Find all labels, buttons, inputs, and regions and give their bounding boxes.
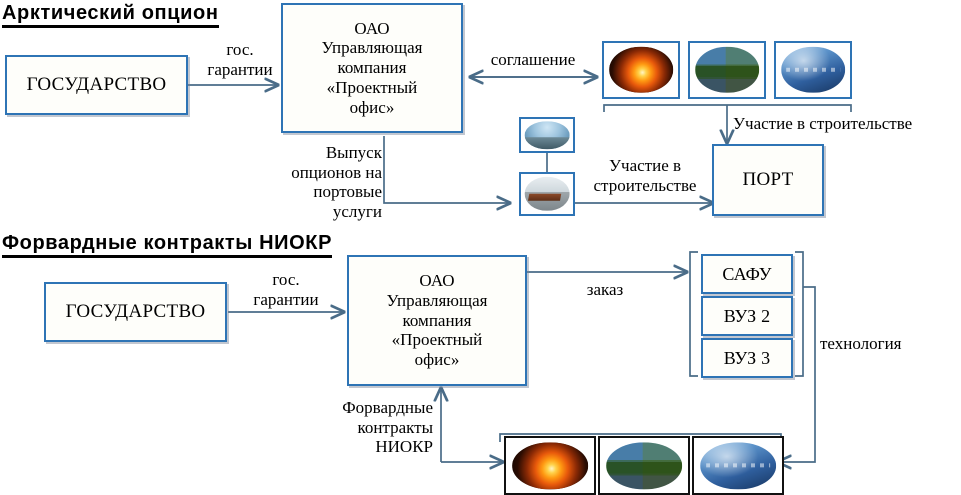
label-uchastie-v-stroitelstve-top: Участие в строительстве — [733, 114, 961, 134]
label-gos-garantii-forward: гос. гарантии — [236, 270, 336, 309]
box-oao-forward-label: ОАО Управляющая компания «Проектный офис… — [387, 271, 488, 370]
heading-forward-contracts: Форвардные контракты НИОКР — [2, 233, 332, 258]
box-state-forward[interactable]: ГОСУДАРСТВО — [44, 282, 227, 342]
box-university-vuz2-label: ВУЗ 2 — [724, 306, 771, 327]
label-gos-garantii-arctic: гос. гарантии — [196, 40, 284, 79]
label-vypusk-opcionov: Выпуск опционов на портовые услуги — [230, 143, 382, 222]
label-soglashenie: соглашение — [468, 50, 598, 70]
thumb-industrial-landscape-top[interactable] — [688, 41, 766, 99]
thumb-maritime-blue-bottom[interactable] — [692, 436, 784, 495]
maritime-blue-photo — [781, 47, 845, 93]
label-zakaz: заказ — [545, 280, 665, 300]
box-oao-arctic[interactable]: ОАО Управляющая компания «Проектный офис… — [281, 3, 463, 133]
thumb-maritime-blue-top[interactable] — [774, 41, 852, 99]
box-university-safu[interactable]: САФУ — [701, 254, 793, 294]
box-university-safu-label: САФУ — [722, 264, 771, 285]
box-state-forward-label: ГОСУДАРСТВО — [66, 301, 206, 323]
label-uchastie-v-stroitelstve-mid: Участие в строительстве — [578, 156, 712, 195]
diagram-canvas: Арктический опцион ГОСУДАРСТВО гос. гара… — [0, 0, 961, 495]
box-university-vuz3-label: ВУЗ 3 — [724, 348, 771, 369]
port-terminal-photo — [525, 121, 570, 149]
thumb-cargo-vessel[interactable] — [519, 172, 575, 216]
industrial-landscape-photo — [695, 47, 759, 93]
furnace-smelting-photo — [512, 442, 588, 489]
thumb-industrial-landscape-bottom[interactable] — [598, 436, 690, 495]
heading-arctic-option: Арктический опцион — [2, 3, 219, 28]
box-oao-arctic-label: ОАО Управляющая компания «Проектный офис… — [322, 19, 423, 118]
wire-oao-to-midthumb — [384, 136, 510, 203]
furnace-smelting-photo — [609, 47, 673, 93]
box-university-vuz3[interactable]: ВУЗ 3 — [701, 338, 793, 378]
maritime-blue-photo — [700, 442, 776, 489]
thumb-port-terminal[interactable] — [519, 117, 575, 153]
industrial-landscape-photo — [606, 442, 682, 489]
box-oao-forward[interactable]: ОАО Управляющая компания «Проектный офис… — [347, 255, 527, 386]
bracket-universities-left — [690, 252, 698, 376]
label-forvardnye-kontrakty-niokr: Форвардные контракты НИОКР — [295, 398, 433, 457]
bracket-universities-right — [795, 252, 803, 376]
cargo-vessel-photo — [525, 177, 570, 211]
label-tehnologiya: технология — [820, 334, 960, 354]
thumb-furnace-smelting-top[interactable] — [602, 41, 680, 99]
box-university-vuz2[interactable]: ВУЗ 2 — [701, 296, 793, 336]
thumb-furnace-smelting-bottom[interactable] — [504, 436, 596, 495]
box-port-label: ПОРТ — [742, 169, 793, 191]
box-state-arctic-label: ГОСУДАРСТВО — [27, 74, 167, 96]
box-state-arctic[interactable]: ГОСУДАРСТВО — [5, 55, 188, 115]
box-port[interactable]: ПОРТ — [712, 144, 824, 216]
